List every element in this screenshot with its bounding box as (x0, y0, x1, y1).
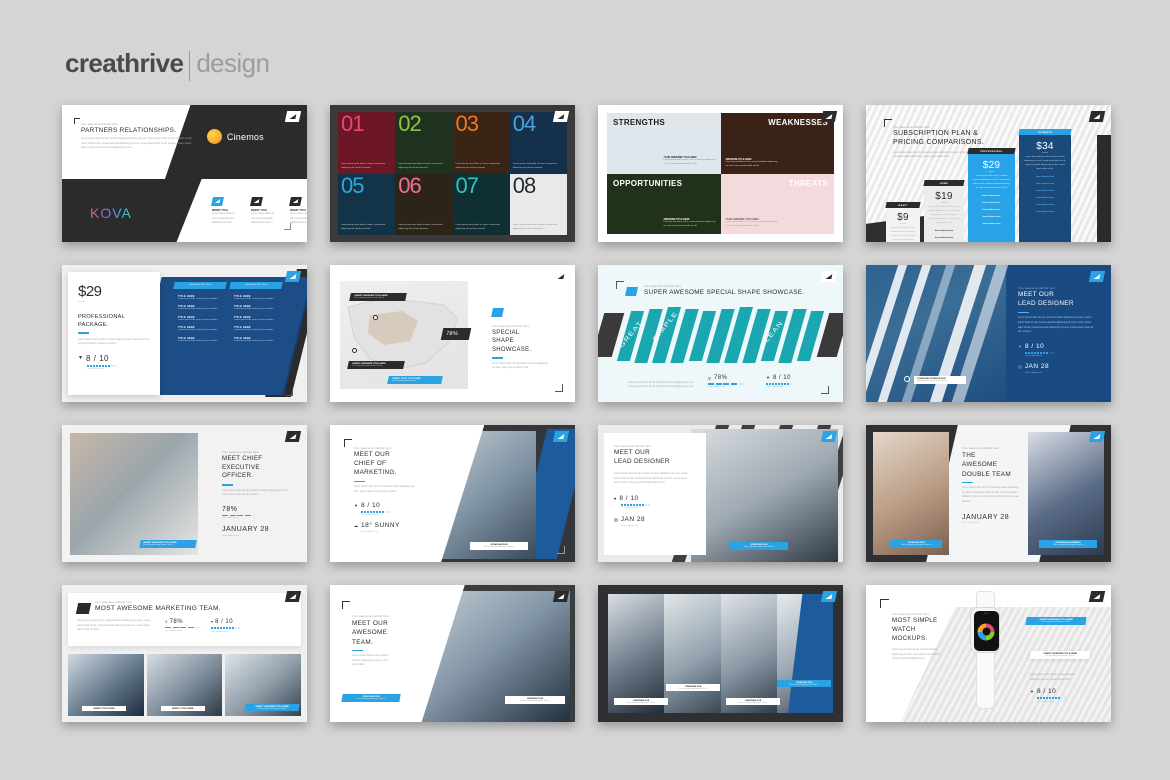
callout-sub: Text ut amotsio uisde amotu. Text ut. (1033, 655, 1087, 657)
rating-value: 8 / 10 (619, 495, 638, 502)
person-card-left[interactable]: JONATHAN DOE Text ut amotsio uisde amotu… (890, 540, 942, 548)
number-label: 03 (456, 115, 507, 134)
tier-feature: Insert feature here (1023, 195, 1067, 202)
slide9-text-block: Your awesome subtitle here MEET CHIEF EX… (222, 451, 292, 537)
slide-corner-badge-icon (1089, 271, 1105, 282)
slide-thumbnail-most-awesome-marketing-team[interactable]: Your awesome subtitle here MOST AWESOME … (62, 585, 307, 722)
accent-bar (962, 482, 973, 484)
ceo-name-card[interactable]: INSERT AWESOME TITLE HERE Text ut amotsi… (139, 540, 196, 548)
watch-callout-white[interactable]: INSERT AWESOME TITLE HERE Text ut amotsi… (1029, 651, 1090, 659)
slide4-heading-line1: SUBSCRIPTION PLAN & (893, 130, 988, 139)
tier-name: HOME (923, 180, 964, 186)
heart-icon: ♥ (211, 620, 213, 624)
package-price: $29 (78, 283, 150, 300)
team-grid: JONATHAN DOE Text ut amotsio uisde amotu… (608, 594, 833, 713)
name-card-sub: Text ut amotsio uisde amotu. Text ut. (917, 380, 963, 382)
member-photo[interactable]: INSERT TITLE HERE (147, 654, 223, 716)
number-text: Lorem ipsum amet dolor sit amet, consect… (341, 224, 392, 232)
slide-corner-badge-icon (821, 271, 837, 282)
member-sub: Text ut amotsio uisde amotu. Text ut. (668, 688, 718, 690)
slide5-col-header: Awesome title here (229, 282, 283, 289)
slide-thumbnail-watch-mockups[interactable]: Your awesome subtitle here MOST SIMPLE W… (866, 585, 1111, 722)
member-photo[interactable]: INSERT AWESOME TITLE HERE Text ut amotsi… (225, 654, 301, 716)
ceo-photo (70, 433, 198, 555)
percent-value: 78% (170, 619, 184, 625)
accent-bar (354, 481, 365, 483)
tier-desc: Lorem ipsum dolor sit elit, consect amot… (889, 227, 917, 242)
slide-corner-badge-icon (553, 591, 569, 602)
slide-thumbnail-meet-our-awesome-team[interactable]: Your awesome subtitle here MEET OUR AWES… (330, 585, 575, 722)
bracket-top-left (884, 119, 892, 127)
location-pin-icon: ⚲ (165, 620, 168, 624)
slide7-body-text: Lorem ipsum dolor sit elit, consect amot… (628, 381, 696, 390)
row-text: Lorem ipsum dolor sit elit, consect amot… (234, 308, 278, 312)
slide10-heading-line1: MEET OUR (354, 451, 416, 460)
number-text: Lorem ipsum amet dolor sit amet, consect… (341, 163, 392, 171)
callout-sub: Text ut amotsio uisde amotu. Text ut. (1029, 621, 1083, 623)
callout-text: Text ut amotsio uisde amotu. Text ut. (354, 297, 402, 299)
member-name-card-blue[interactable]: JONATHAN DOE Text ut amotsio uisde amotu… (777, 680, 831, 687)
slide8-body: Lorem ipsum dolor sit elit, consect amot… (1018, 316, 1094, 334)
rating-subtitle: Your subtitle here (621, 507, 692, 509)
pricing-tier-professional[interactable]: PROFESSIONAL $29 /month Lorem ipsum dolo… (968, 148, 1015, 242)
team-member-photo-left (873, 432, 949, 555)
card-text: Lorem ipsum dolor sit elit, consect amot… (251, 212, 278, 226)
location-pin-icon: ⚲ (708, 376, 711, 381)
package-period: /month (78, 301, 150, 303)
rating-value: 8 / 10 (1037, 688, 1056, 695)
slide7-stat-rating: ▼ 8 / 10 Your subtitle here (766, 375, 795, 389)
member-sub: Text ut amotsio uisde amotu. Text ut. (616, 702, 666, 704)
member-name-card[interactable]: JONATHAN DOE Text ut amotsio uisde amotu… (666, 684, 720, 691)
swot-quadrant-weaknesses[interactable]: WEAKNESSES AWESOME TITLE HERE Lorem ipsu… (721, 113, 835, 174)
tier-feature: Insert feature here (972, 207, 1011, 214)
date-subtitle: Your subtitle here (621, 525, 692, 527)
slide16-right-block: Lorem ipsum dolor sit elit, consect amot… (1030, 673, 1086, 703)
member-photo[interactable]: INSERT TITLE HERE (68, 654, 144, 716)
slide4-heading-line2: PRICING COMPARISONS. (893, 139, 988, 148)
team-card-white[interactable]: JENNIFER DOE Text ut amotsio uisde amotu… (505, 696, 565, 704)
slide-corner-badge-icon (1089, 111, 1105, 122)
slide14-heading-line3: TEAM. (352, 638, 394, 647)
slide16-body-right: Lorem ipsum dolor sit elit, consect amot… (1030, 673, 1086, 682)
slide11-body: Lorem ipsum dolor sit elit, consect amot… (614, 472, 692, 486)
name-card-sub: Text ut amotsio uisde amotu. Text ut. (143, 544, 193, 546)
swot-word: THREATS (727, 179, 829, 188)
slide13-heading: MOST AWESOME MARKETING TEAM. (95, 605, 292, 612)
bracket-top-left (616, 281, 624, 289)
heart-icon: ▼ (354, 503, 358, 508)
member-sub: Text ut amotsio uisde amotu. Text ut. (779, 684, 829, 686)
team-card-blue[interactable]: JONATHAN DOE Text ut amotsio uisde amotu… (341, 694, 400, 702)
rating-subtitle: Your subtitle here (87, 368, 150, 370)
swot-quadrants: STRENGTHS YOUR AWESOME TITLE HERE Lorem … (607, 113, 834, 234)
package-heading-line2: PACKAGE. (78, 322, 150, 330)
cinemos-circle-icon (207, 129, 222, 144)
slide1-card[interactable]: INSERT TITLE Lorem ipsum dolor sit elit,… (251, 197, 278, 226)
number-text: Lorem ipsum amet dolor sit amet, consect… (513, 163, 564, 171)
member-sub: Text ut amotsio uisde amotu. Text ut. (247, 708, 297, 710)
slide-corner-badge-icon (553, 431, 569, 442)
card-chip-icon (211, 197, 224, 206)
heart-icon: ▼ (766, 375, 770, 380)
slide7-chip-icon (625, 287, 638, 296)
map-callout[interactable]: INSERT AWESOME TITLE HERE Text ut amotsi… (347, 361, 405, 369)
slide12-heading-line1: THE (962, 451, 1020, 460)
rating-subtitle: Your subtitle here (361, 514, 416, 516)
row-text: Lorem ipsum dolor sit elit, consect amot… (234, 340, 278, 344)
slide-corner-badge-icon (285, 591, 301, 602)
package-body: Lorem ipsum dolor sit amet consect adipi… (78, 338, 150, 347)
brand-name-light: design (196, 48, 269, 79)
row-text: Lorem ipsum dolor sit elit, consect amot… (234, 319, 278, 323)
number-text: Lorem ipsum amet dolor sit amet, consect… (456, 224, 507, 232)
rating-value: 8 / 10 (1025, 343, 1044, 350)
brand-divider (189, 51, 190, 81)
row-text: Lorem ipsum dolor sit elit, consect amot… (234, 298, 278, 302)
calendar-icon: ▤ (614, 517, 618, 522)
slide8-date: ▤ JAN 28 (1018, 363, 1094, 370)
slide7-subtitle: Your awesome subtitle here (644, 285, 805, 288)
slide9-body: Lorem ipsum dolor sit elit, consect amot… (222, 489, 292, 498)
callout-text: Text ut amotsio uisde amotu. (392, 380, 438, 382)
person-sub: Text ut amotsio uisde amotu. Text ut. (345, 698, 397, 700)
slide-thumbnail-professional-package[interactable]: Awesome title here Awesome title here TI… (62, 265, 307, 402)
card-text: Lorem ipsum dolor sit elit, consect amot… (290, 212, 307, 226)
tier-feature: Insert feature here (1023, 174, 1067, 181)
slide1-heading: PARTNERS RELATIONSHIPS. (81, 127, 196, 134)
slide9-heading-line3: OFFICER. (222, 472, 292, 481)
tier-price: $9 (889, 212, 917, 223)
slide1-text-block: Your awesome subtitle here PARTNERS RELA… (81, 123, 196, 151)
tier-feature: Insert feature here (1023, 209, 1067, 216)
slide16-subtitle: Your awesome subtitle here (892, 613, 944, 616)
heart-icon: ♥ (614, 496, 616, 501)
team-member[interactable] (664, 594, 720, 713)
slide-thumbnail-partners-relationships[interactable]: Cinemos Your awesome subtitle here PARTN… (62, 105, 307, 242)
slide-thumbnail-team-four-grid[interactable]: JONATHAN DOE Text ut amotsio uisde amotu… (598, 585, 843, 722)
slide16-heading-line1: MOST SIMPLE (892, 617, 944, 626)
slide-thumbnail-special-shape-showcase[interactable]: INSERT AWESOME TITLE HERE Text ut amotsi… (330, 265, 575, 402)
slide14-text-block: Your awesome subtitle here MEET OUR AWES… (352, 615, 394, 668)
slide16-heading-line3: MOCKUPS. (892, 635, 944, 644)
activity-rings-icon (978, 623, 995, 640)
slide11-subtitle: Your awesome subtitle here (614, 445, 692, 448)
slide-corner-badge-icon (285, 431, 301, 442)
photo-marker-icon (904, 376, 910, 382)
stat-subtitle: Your subtitle here (165, 630, 201, 632)
tier-name: BASIC (885, 202, 920, 208)
person-card-right[interactable]: KATHERINA ELIZABETH Text ut amotsio uisd… (1039, 540, 1097, 548)
tier-desc: Lorem ipsum dolor sit elit, consect amot… (972, 175, 1011, 191)
slide9-heading-line2: EXECUTIVE (222, 464, 292, 473)
slide10-body: Lorem ipsum dolor sit elit, consect amot… (354, 485, 416, 494)
pricing-tier-basic[interactable]: BASIC $9 /month Lorem ipsum dolor sit el… (886, 202, 920, 242)
bracket-bottom-right (557, 546, 565, 554)
slide-corner-badge-icon (553, 111, 569, 122)
person-sub: Text ut amotsio uisde amotu. Text ut. (1042, 544, 1094, 546)
slide-thumbnail-swot-analysis[interactable]: STRENGTHS YOUR AWESOME TITLE HERE Lorem … (598, 105, 843, 242)
stat-subtitle: Your subtitle here (211, 631, 240, 633)
member-name-card[interactable]: INSERT TITLE HERE (82, 706, 126, 711)
lead-designer-name-card[interactable]: JONATHAN DOE Text ut amotsio uisde amotu… (730, 542, 788, 550)
watch-callout-blue[interactable]: INSERT AWESOME TITLE HERE Text ut amotsi… (1025, 617, 1086, 625)
bracket-bottom-right (284, 223, 291, 230)
percent-value: 78% (445, 331, 466, 337)
slide1-subtitle: Your awesome subtitle here (81, 123, 196, 126)
cinemos-label: Cinemos (227, 132, 264, 142)
package-rating: ▼ 8 / 10 (78, 354, 150, 363)
number-label: 08 (513, 177, 564, 196)
heart-icon: ▼ (1030, 689, 1034, 694)
swot-quadrant-opportunities[interactable]: OPPORTUNITIES AWESOME TITLE HERE Lorem i… (607, 174, 721, 235)
package-heading-line1: PROFESSIONAL (78, 314, 150, 322)
rating-subtitle: Your subtitle here (1025, 355, 1094, 357)
rating-dots (87, 365, 150, 367)
slide16-text-block: Your awesome subtitle here MOST SIMPLE W… (892, 613, 944, 662)
slide12-text-block: Your awesome subtitle here THE AWESOME D… (962, 447, 1020, 524)
member-sub: Text ut amotsio uisde amotu. Text ut. (728, 702, 778, 704)
slide11-heading-line1: MEET OUR (614, 449, 692, 458)
card-text: Lorem ipsum dolor sit elit, consect amot… (212, 212, 239, 226)
slide10-subtitle: Your awesome subtitle here (354, 447, 416, 450)
swot-quadrant-strengths[interactable]: STRENGTHS YOUR AWESOME TITLE HERE Lorem … (607, 113, 721, 174)
slide-thumbnail-meet-lead-designer-light[interactable]: Your awesome subtitle here MEET OUR LEAD… (598, 425, 843, 562)
slide13-subtitle: Your awesome subtitle here (95, 601, 292, 604)
slide7-stat-percent: ⚲ 78% Your subtitle here (708, 375, 744, 388)
map-percent-callout: 78% (441, 328, 472, 340)
slide-thumbnail-meet-lead-designer-blue[interactable]: JONATHAN STRANGE DOE Text ut amotsio uis… (866, 265, 1111, 402)
number-label: 05 (341, 177, 392, 196)
slide16-body: Lorem ipsum dolor sit elit, consect amot… (892, 648, 944, 662)
brand-logo: creathrive design (65, 48, 269, 79)
slide10-text-block: Your awesome subtitle here MEET OUR CHIE… (354, 447, 416, 533)
tier-period: /month (889, 223, 917, 225)
team-member[interactable] (721, 594, 777, 713)
slide1-cards: INSERT TITLE Lorem ipsum dolor sit elit,… (212, 197, 307, 226)
slide8-heading-line1: MEET OUR (1018, 291, 1094, 300)
member-name: INSERT TITLE HERE (163, 708, 203, 710)
swot-text: Lorem ipsum dolor sit elit, consect amot… (726, 221, 778, 229)
member-name-card[interactable]: INSERT TITLE HERE (161, 706, 205, 711)
slide-corner-badge-icon (1089, 591, 1105, 602)
accent-bar (78, 332, 89, 334)
tier-feature: Insert feature here (972, 193, 1011, 200)
cinemos-logo: Cinemos (207, 129, 264, 144)
bracket-top-left (880, 599, 889, 608)
weather-subtitle: Your subtitle here (361, 531, 416, 533)
swot-word: STRENGTHS (613, 118, 715, 127)
slide10-heading-line3: MARKETING. (354, 469, 416, 478)
slide8-rating: ▼ 8 / 10 (1018, 343, 1094, 350)
slide-thumbnail-meet-chief-of-marketing[interactable]: Your awesome subtitle here MEET OUR CHIE… (330, 425, 575, 562)
slide13-chip-icon (76, 603, 91, 614)
slide12-heading-line3: DOUBLE TEAM (962, 470, 1020, 479)
rating-value: 8 / 10 (215, 619, 233, 625)
tier-feature: Insert feature here (928, 228, 960, 235)
accent-bar (1018, 312, 1029, 314)
bracket-bottom-right (555, 384, 563, 392)
kova-logo: KOVA (90, 205, 132, 221)
slide14-heading-line2: AWESOME (352, 628, 394, 637)
date-value: JAN 28 (621, 516, 645, 523)
tier-feature: Insert feature here (1023, 181, 1067, 188)
pricing-tier-home[interactable]: HOME $19 /month Lorem ipsum dolor sit el… (924, 180, 964, 242)
slide4-subtitle: Your awesome subtitle here (893, 126, 988, 129)
slide11-text-block: Your awesome subtitle here MEET OUR LEAD… (614, 445, 692, 527)
brand-name-bold: creathrive (65, 48, 183, 79)
swot-quadrant-threats[interactable]: THREATS YOUR AWESOME TITLE HERE Lorem ip… (721, 174, 835, 235)
slide-corner-badge-icon (285, 111, 301, 122)
number-tile[interactable]: 03Lorem ipsum amet dolor sit amet, conse… (453, 112, 510, 174)
rating-subtitle: Your subtitle here (1037, 701, 1086, 703)
member-name-card[interactable]: JONATHAN DOE Text ut amotsio uisde amotu… (614, 698, 668, 705)
percent-value: 78% (222, 506, 292, 513)
date-subtitle: Your subtitle here (1025, 372, 1094, 374)
slide-corner-badge-icon (1089, 431, 1105, 442)
date-subtitle: Your subtitle here (222, 535, 292, 537)
number-label: 01 (341, 115, 392, 134)
watch-body: 9:41 (970, 607, 1000, 653)
accent-bar (222, 484, 233, 486)
person-sub: Text ut amotsio uisde amotu. Text ut. (508, 700, 562, 702)
member-name-card-blue[interactable]: INSERT AWESOME TITLE HERE Text ut amotsi… (244, 704, 299, 711)
tier-feature: Insert feature here (972, 221, 1011, 228)
slide14-heading-line1: MEET OUR (352, 619, 394, 628)
name-card-sub: Text ut amotsio uisde amotu. Text ut. (473, 546, 525, 548)
pricing-tier-ultimate[interactable]: ULTIMATE $34 /month Lorem ipsum dolor si… (1019, 129, 1071, 242)
bracket-bottom-right (821, 386, 829, 394)
member-name-card[interactable]: JONATHAN DOE Text ut amotsio uisde amotu… (726, 698, 780, 705)
heart-icon: ▼ (1018, 344, 1022, 349)
number-text: Lorem ipsum amet dolor sit amet, consect… (398, 224, 449, 232)
team-member[interactable] (608, 594, 664, 713)
slide12-subtitle: Your awesome subtitle here (962, 447, 1020, 450)
row-text: Lorem ipsum dolor sit elit, consect amot… (234, 329, 278, 333)
rating-value: 8 / 10 (361, 502, 380, 509)
designer-name-card[interactable]: JONATHAN STRANGE DOE Text ut amotsio uis… (914, 376, 966, 384)
tier-name: ULTIMATE (1018, 129, 1071, 135)
slide14-body: Lorem ipsum dolor sit elit, consect amot… (352, 654, 394, 668)
slide13-stat-rating: ♥ 8 / 10 Your subtitle here (211, 619, 240, 633)
slide6-body: Lorem ipsum dolor sit elit consect amots… (492, 362, 550, 371)
tier-desc: Lorem ipsum dolor sit elit, consect amot… (1023, 156, 1067, 172)
slide-corner-badge-icon (285, 271, 301, 282)
row-text: Lorem ipsum dolor sit elit, consect amot… (178, 308, 222, 312)
slide13-stat-percent: ⚲ 78% Your subtitle here (165, 619, 201, 633)
tier-feature: Insert feature here (928, 235, 960, 242)
slide9-subtitle: Your awesome subtitle here (222, 451, 292, 454)
person-sub: Text ut amotsio uisde amotu. Text ut. (893, 544, 939, 546)
row-text: Lorem ipsum dolor sit elit, consect amot… (178, 298, 222, 302)
row-text: Lorem ipsum dolor sit elit, consect amot… (178, 329, 222, 333)
date-value: JAN 28 (1025, 363, 1049, 370)
accent-bar (492, 357, 503, 359)
tier-feature: Insert feature here (972, 200, 1011, 207)
slide1-body: Lorem ipsum dolor sit elit, consect amot… (81, 137, 196, 151)
slide-thumbnail-awesome-double-team[interactable]: Your awesome subtitle here THE AWESOME D… (866, 425, 1111, 562)
percent-subtitle: Your subtitle here (222, 517, 292, 519)
number-tile[interactable]: 01Lorem ipsum amet dolor sit amet, conse… (338, 112, 395, 174)
map-callout-blue[interactable]: INSERT YOUR TITLE HERE Text ut amotsio u… (387, 376, 443, 384)
row-text: Lorem ipsum dolor sit elit, consect amot… (178, 340, 222, 344)
slide7-heading: SUPER AWESOME SPECIAL SHAPE SHOWCASE. (644, 289, 805, 296)
number-tile[interactable]: 07Lorem ipsum amet dolor sit amet, conse… (453, 174, 510, 236)
percent-value: 78% (714, 375, 728, 381)
slide6-text-block: Your awesome subtitle here SPECIAL SHAPE… (492, 325, 550, 371)
row-text: Lorem ipsum dolor sit elit, consect amot… (178, 319, 222, 323)
slide5-column-right: TITLE HERE Lorem ipsum dolor sit elit, c… (234, 295, 278, 347)
bracket-bottom-right (286, 389, 293, 396)
stat-subtitle: Your subtitle here (708, 386, 744, 388)
tier-price: $34 (1023, 141, 1067, 152)
bracket-top-left (344, 439, 352, 447)
slide8-text-block: Your awesome subtitle here MEET OUR LEAD… (1018, 287, 1094, 374)
slide1-card[interactable]: INSERT TITLE Lorem ipsum dolor sit elit,… (212, 197, 239, 226)
slide-thumbnail-super-awesome-shape-showcase[interactable]: GREAT SIMPLE CLEAN Your awesome subtitle… (598, 265, 843, 402)
watch-time: 9:41 (974, 613, 999, 615)
number-tile[interactable]: 02Lorem ipsum amet dolor sit amet, conse… (395, 112, 452, 174)
bracket-top-left (342, 601, 350, 609)
number-tile[interactable]: 05Lorem ipsum amet dolor sit amet, conse… (338, 174, 395, 236)
marketing-name-card[interactable]: JONATHAN DOE Text ut amotsio uisde amotu… (470, 542, 528, 550)
slide12-body: Lorem ipsum dolor sit elit, consect amot… (962, 486, 1020, 504)
slide5-col-header: Awesome title here (173, 282, 227, 289)
slide-thumbnail-meet-chief-executive-officer[interactable]: INSERT AWESOME TITLE HERE Text ut amotsi… (62, 425, 307, 562)
map-pin-icon (352, 348, 357, 353)
slide8-subtitle: Your awesome subtitle here (1018, 287, 1094, 290)
slide6-heading-line3: SHOWCASE. (492, 346, 550, 354)
slide5-column-left: TITLE HERE Lorem ipsum dolor sit elit, c… (178, 295, 222, 347)
slide-thumbnail-subscription-pricing[interactable]: Your awesome subtitle here SUBSCRIPTION … (866, 105, 1111, 242)
tier-period: /month (928, 202, 960, 204)
date-value: JANUARY 28 (962, 514, 1020, 521)
slide-thumbnail-numbered-grid[interactable]: 01Lorem ipsum amet dolor sit amet, conse… (330, 105, 575, 242)
watch-band-bottom (976, 651, 995, 709)
rating-value: 8 / 10 (86, 354, 109, 363)
accent-bar (352, 650, 363, 652)
slide1-card[interactable]: INSERT TITLE Lorem ipsum dolor sit elit,… (290, 197, 307, 226)
slide6-heading-line1: SPECIAL (492, 329, 550, 337)
swot-word: OPPORTUNITIES (613, 179, 715, 188)
number-tile[interactable]: 06Lorem ipsum amet dolor sit amet, conse… (395, 174, 452, 236)
swot-word: WEAKNESSES (727, 118, 829, 127)
slide12-heading-line2: AWESOME (962, 460, 1020, 469)
map-pin-icon (373, 315, 378, 320)
slide-thumbnail-grid: Cinemos Your awesome subtitle here PARTN… (62, 105, 1110, 730)
team-member-photo-right (1028, 432, 1104, 555)
slide6-chip-icon (491, 308, 504, 317)
number-tile[interactable]: 08Lorem ipsum amet dolor sit amet, conse… (510, 174, 567, 236)
number-text: Lorem ipsum amet dolor sit amet, consect… (398, 163, 449, 171)
number-tiles: 01Lorem ipsum amet dolor sit amet, conse… (338, 112, 567, 235)
weather-value: 18° SUNNY (361, 522, 400, 529)
card-chip-icon (289, 197, 302, 206)
tier-period: /month (972, 171, 1011, 173)
map-callout[interactable]: INSERT AWESOME TITLE HERE Text ut amotsi… (349, 293, 407, 301)
tier-name: PROFESSIONAL (967, 148, 1015, 154)
cloud-icon: ☁ (354, 523, 358, 528)
tier-desc: Lorem ipsum dolor sit elit, consect amot… (928, 206, 960, 226)
member-name: INSERT TITLE HERE (84, 708, 124, 710)
slide11-heading-line2: LEAD DESIGNER (614, 458, 692, 467)
bracket-top-left (74, 118, 80, 124)
slide7-body: Lorem ipsum dolor sit elit, consect amot… (628, 381, 696, 390)
calendar-icon: ▤ (1018, 364, 1022, 369)
slide10-heading-line2: CHIEF OF (354, 460, 416, 469)
tier-price: $29 (972, 160, 1011, 171)
card-chip-icon (250, 197, 263, 206)
